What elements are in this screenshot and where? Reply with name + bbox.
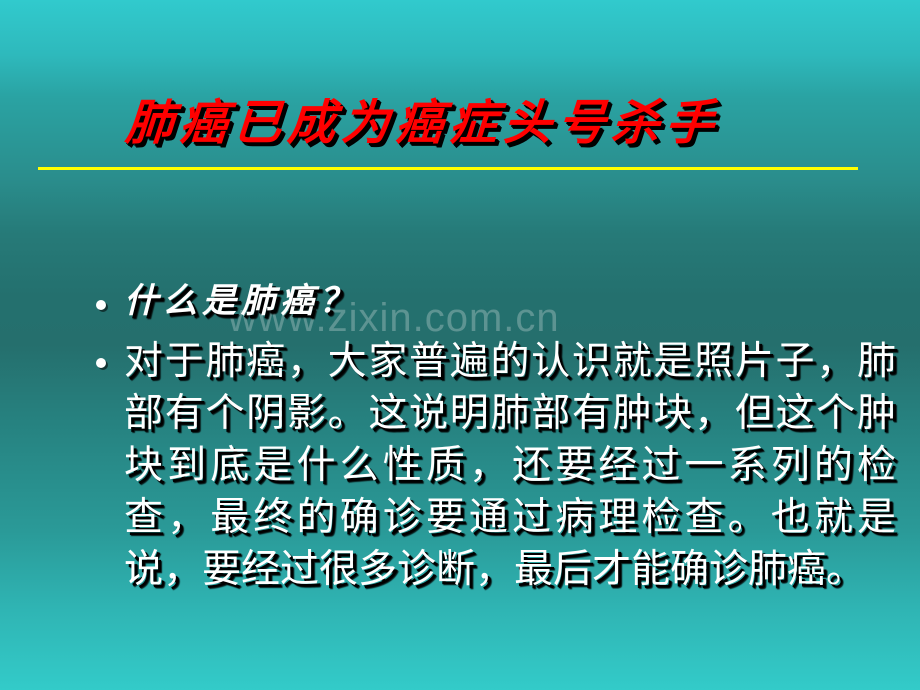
slide-title: 肺癌已成为癌症头号杀手	[124, 83, 723, 153]
title-divider-line	[38, 167, 858, 170]
bullet-text-explanation: 对于肺癌，大家普遍的认识就是照片子，肺部有个阴影。这说明肺部有肿块，但这个肿块到…	[124, 336, 896, 596]
bullet-dot-icon	[96, 300, 106, 310]
list-item: 对于肺癌，大家普遍的认识就是照片子，肺部有个阴影。这说明肺部有肿块，但这个肿块到…	[96, 336, 896, 596]
bullet-text-question: 什么是肺癌？	[124, 283, 896, 320]
slide-body: 什么是肺癌？ 对于肺癌，大家普遍的认识就是照片子，肺部有个阴影。这说明肺部有肿块…	[96, 283, 896, 596]
list-item: 什么是肺癌？	[96, 283, 896, 320]
slide-canvas: www.zixin.com.cn 肺癌已成为癌症头号杀手 什么是肺癌？ 对于肺癌…	[0, 0, 920, 690]
bullet-dot-icon	[96, 358, 106, 368]
